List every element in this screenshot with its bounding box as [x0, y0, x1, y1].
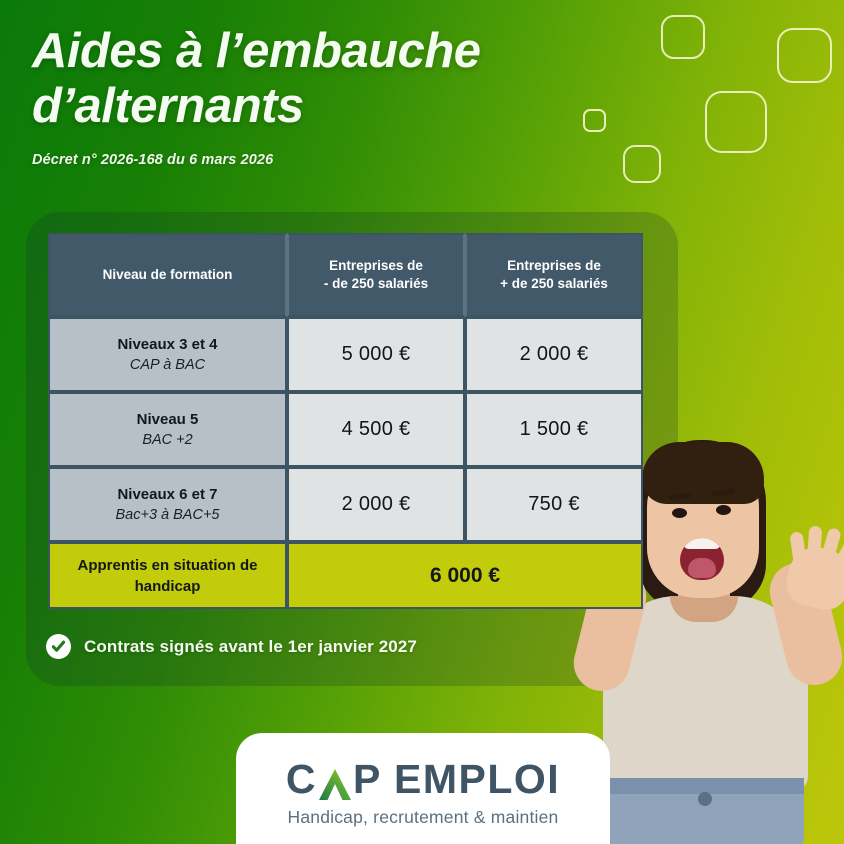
cell-amount-small: 5 000 € — [287, 317, 465, 392]
cell-level: Niveau 5 BAC +2 — [48, 392, 287, 467]
level-subtitle: BAC +2 — [50, 430, 285, 450]
cell-amount-small: 4 500 € — [287, 392, 465, 467]
table-row: Niveaux 6 et 7 Bac+3 à BAC+5 2 000 € 750… — [48, 467, 643, 542]
cell-amount-large: 1 500 € — [465, 392, 643, 467]
level-title: Niveau 5 — [50, 410, 285, 430]
level-title: Niveaux 6 et 7 — [50, 485, 285, 505]
decree-reference: Décret n° 2026-168 du 6 mars 2026 — [32, 152, 552, 168]
level-title: Niveaux 3 et 4 — [50, 335, 285, 355]
table-header-row: Niveau de formation Entreprises de - de … — [48, 233, 643, 317]
cell-level: Niveaux 6 et 7 Bac+3 à BAC+5 — [48, 467, 287, 542]
decorative-square-icon — [777, 28, 832, 83]
check-circle-icon — [46, 634, 71, 659]
header-block: Aides à l’embauche d’alternants Décret n… — [32, 24, 552, 168]
logo-tagline: Handicap, recrutement & maintien — [288, 807, 559, 828]
logo-text-part2: P EMPLOI — [353, 759, 560, 800]
decorative-square-icon — [661, 15, 705, 59]
poster-canvas: Aides à l’embauche d’alternants Décret n… — [0, 0, 844, 844]
logo-wordmark: C P EMPLOI — [286, 759, 560, 800]
logo-card: C P EMPLOI Handicap, recrutement & mai — [236, 733, 610, 844]
cell-amount-large: 2 000 € — [465, 317, 643, 392]
cell-level-disability: Apprentis en situation de handicap — [48, 542, 287, 609]
logo-text-part1: C — [286, 759, 317, 800]
logo-triangle-a-icon — [318, 766, 352, 797]
cell-amount-small: 2 000 € — [287, 467, 465, 542]
table-row-highlight: Apprentis en situation de handicap 6 000… — [48, 542, 643, 609]
column-header-level: Niveau de formation — [48, 233, 287, 317]
column-header-small-companies: Entreprises de - de 250 salariés — [287, 233, 465, 317]
decorative-square-icon — [583, 109, 606, 132]
footnote: Contrats signés avant le 1er janvier 202… — [46, 634, 417, 659]
cell-level: Niveaux 3 et 4 CAP à BAC — [48, 317, 287, 392]
cell-amount-large: 750 € — [465, 467, 643, 542]
footnote-text: Contrats signés avant le 1er janvier 202… — [84, 637, 417, 657]
cell-amount-merged: 6 000 € — [287, 542, 643, 609]
column-header-large-companies: Entreprises de + de 250 salariés — [465, 233, 643, 317]
level-subtitle: Bac+3 à BAC+5 — [50, 505, 285, 525]
aid-amounts-table: Niveau de formation Entreprises de - de … — [48, 233, 643, 609]
decorative-square-icon — [623, 145, 661, 183]
page-title: Aides à l’embauche d’alternants — [32, 24, 552, 134]
table-row: Niveaux 3 et 4 CAP à BAC 5 000 € 2 000 € — [48, 317, 643, 392]
table-body: Niveaux 3 et 4 CAP à BAC 5 000 € 2 000 €… — [48, 317, 643, 609]
table-row: Niveau 5 BAC +2 4 500 € 1 500 € — [48, 392, 643, 467]
decorative-square-icon — [705, 91, 767, 153]
level-subtitle: CAP à BAC — [50, 355, 285, 375]
table-head: Niveau de formation Entreprises de - de … — [48, 233, 643, 317]
